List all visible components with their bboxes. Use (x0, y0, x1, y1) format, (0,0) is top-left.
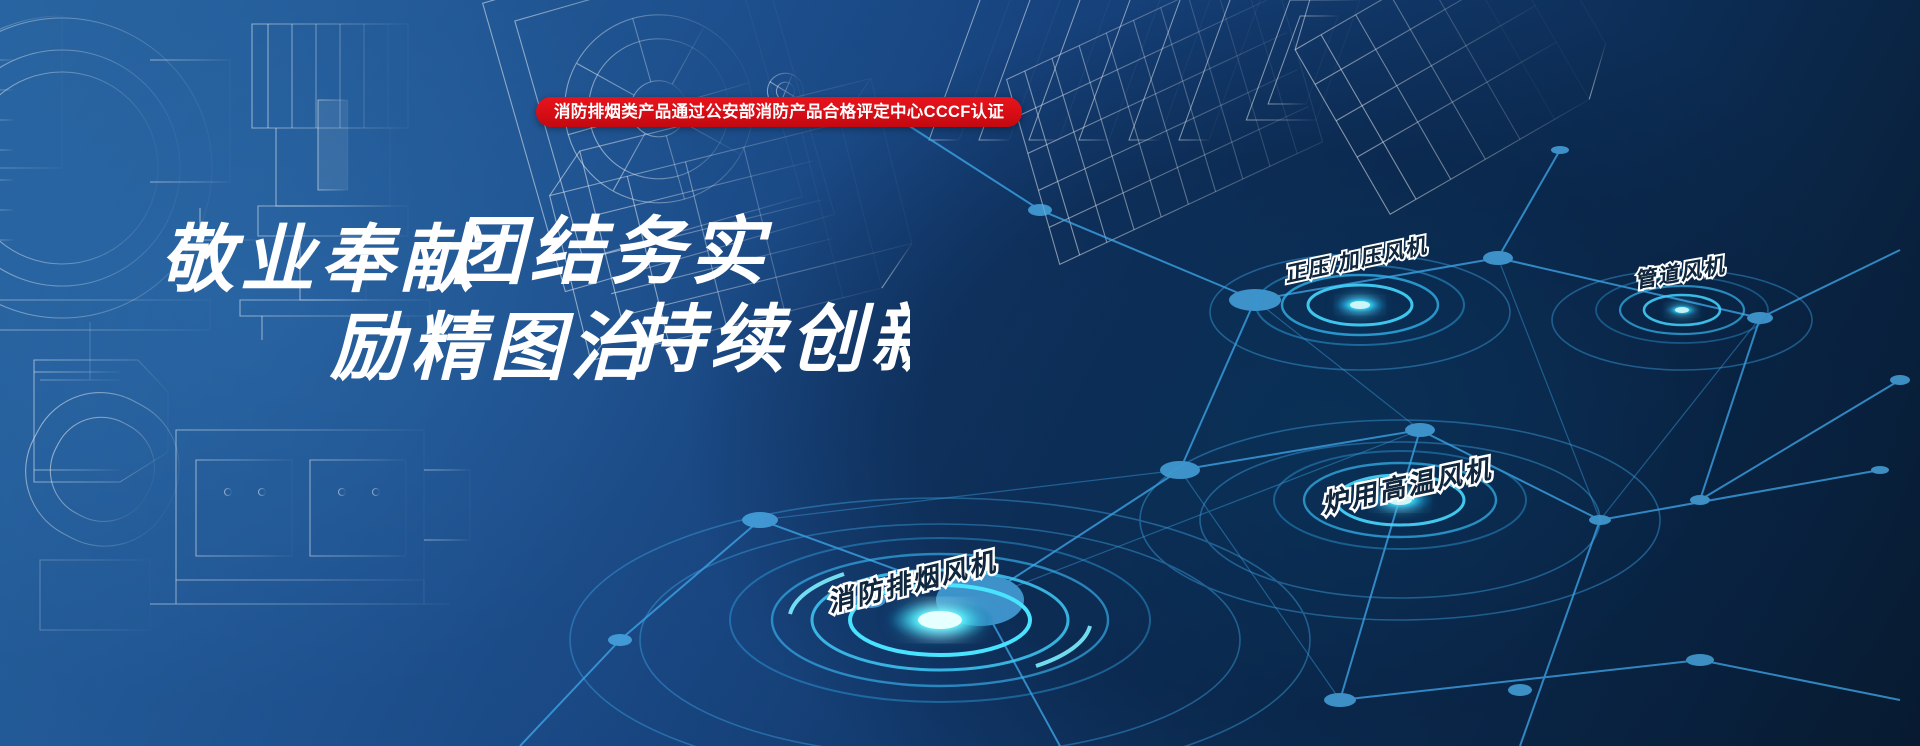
slogan-line-2-part-1: 励精图治 (329, 308, 650, 385)
slogan-line-1-part-2: 团结务实 (450, 212, 773, 294)
certification-ribbon-text: 消防排烟类产品通过公安部消防产品合格评定中心CCCF认证 (554, 104, 1004, 121)
certification-ribbon: 消防排烟类产品通过公安部消防产品合格评定中心CCCF认证 (536, 97, 1022, 127)
slogan-block: 敬业奉献 团结务实 励精图治 持续创新 (150, 205, 910, 385)
radar-ring-2 (1596, 277, 1768, 343)
slogan-line-1-part-1: 敬业奉献 (160, 220, 483, 302)
hero-banner: 消防排烟类产品通过公安部消防产品合格评定中心CCCF认证 敬业奉献 团结务实 励… (0, 0, 1920, 746)
slogan-line-2-part-2: 持续创新 (630, 300, 910, 382)
